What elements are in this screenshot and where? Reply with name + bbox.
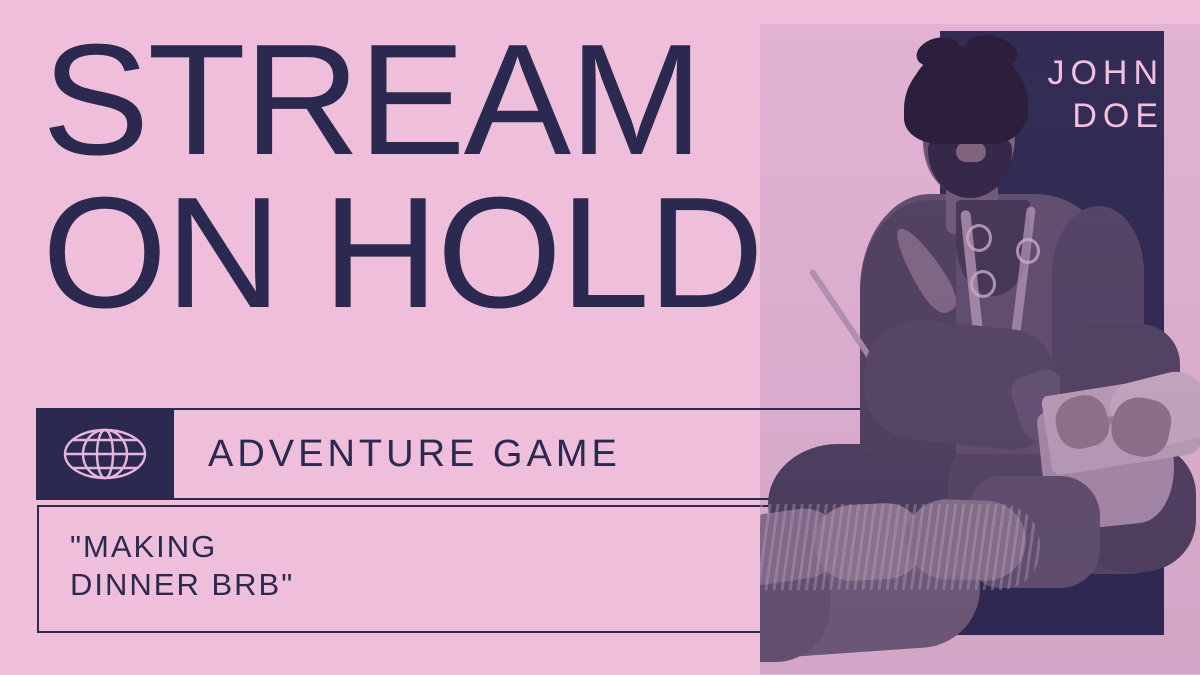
status-quote-text: "MAKING DINNER BRB" (70, 528, 294, 605)
category-label: ADVENTURE GAME (208, 408, 621, 500)
presenter-first-name: JOHN (1047, 52, 1164, 95)
tunic-motif-3 (1016, 238, 1040, 264)
presenter-last-name: DOE (1047, 95, 1164, 138)
tunic-motif-1 (966, 224, 992, 252)
figure-mouth-area (956, 142, 986, 162)
presenter-nameplate: JOHN DOE (1047, 52, 1164, 137)
stream-overlay-canvas: STREAM ON HOLD (0, 0, 1200, 675)
globe-badge (36, 408, 174, 500)
boot-fur-texture (760, 504, 1040, 590)
tunic-motif-2 (970, 270, 996, 298)
figure-hair (908, 46, 1028, 138)
globe-icon (63, 425, 147, 483)
